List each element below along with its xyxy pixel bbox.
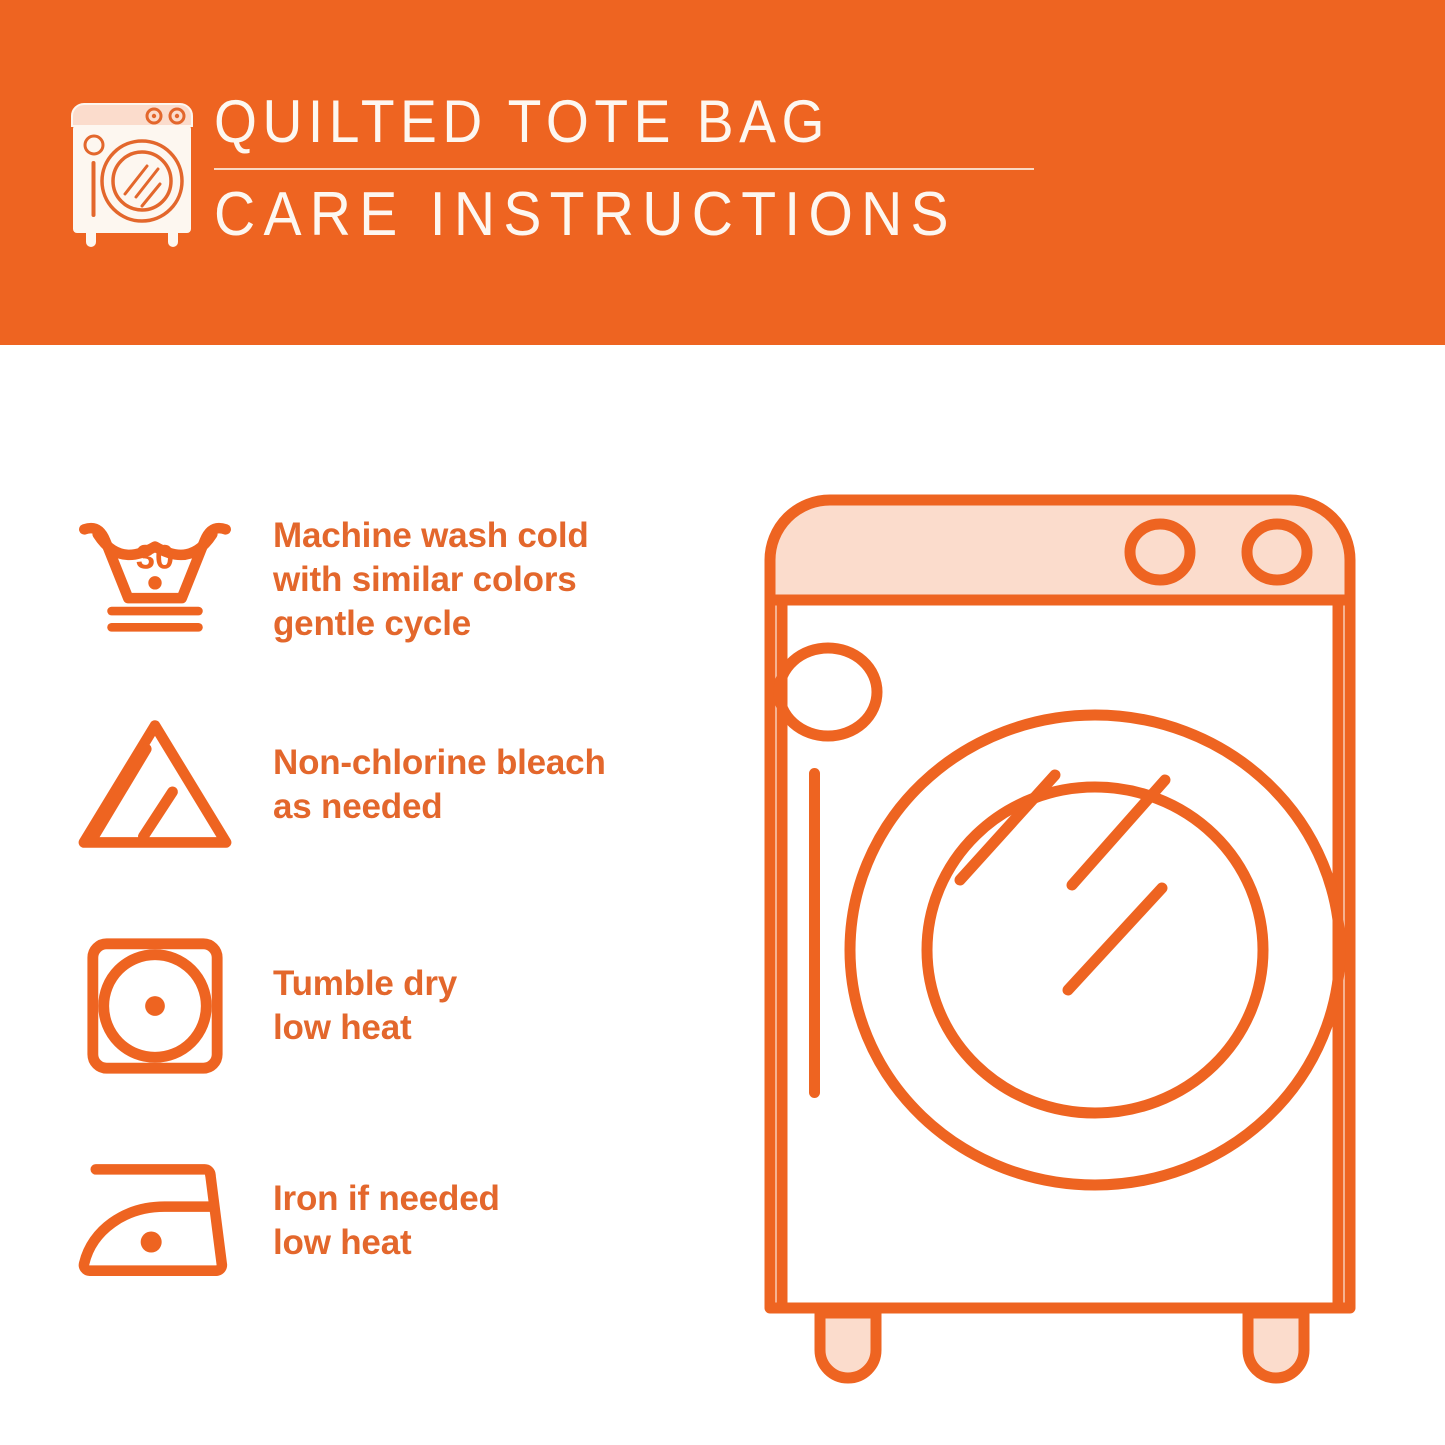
header-content: QUILTED TOTE BAG CARE INSTRUCTIONS (62, 88, 1062, 268)
care-line: low heat (273, 1221, 700, 1265)
page-subtitle: CARE INSTRUCTIONS (214, 180, 987, 250)
care-line: Machine wash cold (273, 514, 700, 558)
title-divider (214, 168, 1034, 170)
care-row-bleach: Non-chlorine bleach as needed (0, 702, 700, 867)
leg-left (820, 1313, 876, 1378)
washing-machine-illustration (710, 470, 1410, 1390)
care-row-machine-wash: 30 Machine wash cold with similar colors… (0, 495, 700, 665)
care-instruction-list: 30 Machine wash cold with similar colors… (0, 345, 700, 1445)
wash-tub-30-gentle-icon: 30 (55, 508, 255, 652)
care-text-machine-wash: Machine wash cold with similar colors ge… (273, 514, 700, 646)
non-chlorine-bleach-triangle-icon (55, 712, 255, 858)
care-row-tumble-dry: Tumble dry low heat (0, 923, 700, 1088)
care-line: as needed (273, 785, 700, 829)
vertical-slot (809, 768, 820, 1098)
header-titles: QUILTED TOTE BAG CARE INSTRUCTIONS (214, 88, 1054, 250)
care-line: Iron if needed (273, 1177, 700, 1221)
care-instructions-page: QUILTED TOTE BAG CARE INSTRUCTIONS 30 (0, 0, 1445, 1445)
care-line: low heat (273, 1006, 700, 1050)
header-banner: QUILTED TOTE BAG CARE INSTRUCTIONS (0, 0, 1445, 345)
care-text-bleach: Non-chlorine bleach as needed (273, 741, 700, 829)
iron-low-heat-icon (55, 1154, 255, 1288)
wash-temp-label: 30 (136, 539, 174, 577)
tumble-dry-low-icon (55, 932, 255, 1080)
care-text-iron: Iron if needed low heat (273, 1177, 700, 1265)
care-line: Non-chlorine bleach (273, 741, 700, 785)
care-text-tumble-dry: Tumble dry low heat (273, 962, 700, 1050)
washing-machine-icon (62, 96, 202, 248)
care-line: gentle cycle (273, 602, 700, 646)
care-line: with similar colors (273, 558, 700, 602)
care-row-iron: Iron if needed low heat (0, 1143, 700, 1298)
control-panel (770, 500, 1350, 600)
leg-right (1248, 1313, 1304, 1378)
care-line: Tumble dry (273, 962, 700, 1006)
page-title: QUILTED TOTE BAG (214, 88, 987, 156)
